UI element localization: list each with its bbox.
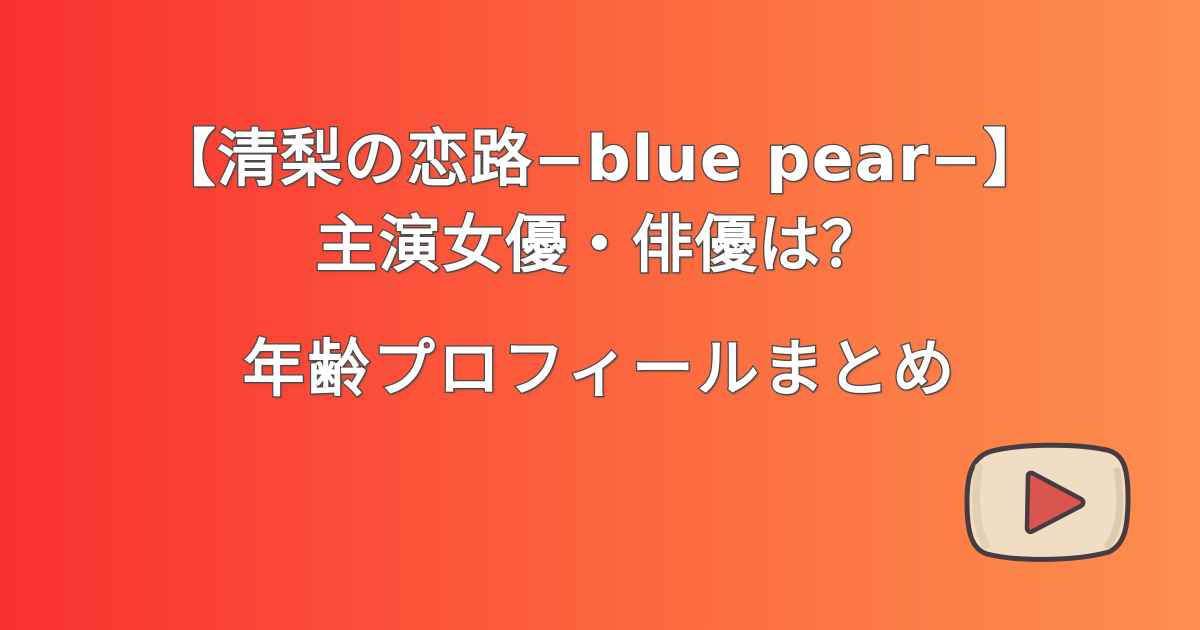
youtube-thumbnail-banner: 【清梨の恋路−blue pear−】 主演女優・俳優は？ 年齢プロフィールまとめ — [0, 0, 1200, 630]
title-block: 【清梨の恋路−blue pear−】 主演女優・俳優は？ 年齢プロフィールまとめ — [0, 128, 1200, 400]
title-line-3: 年齢プロフィールまとめ — [40, 338, 1160, 400]
youtube-play-icon — [962, 441, 1134, 565]
title-line-1: 【清梨の恋路−blue pear−】 — [40, 128, 1160, 190]
title-line-2: 主演女優・俳優は？ — [40, 214, 1160, 276]
